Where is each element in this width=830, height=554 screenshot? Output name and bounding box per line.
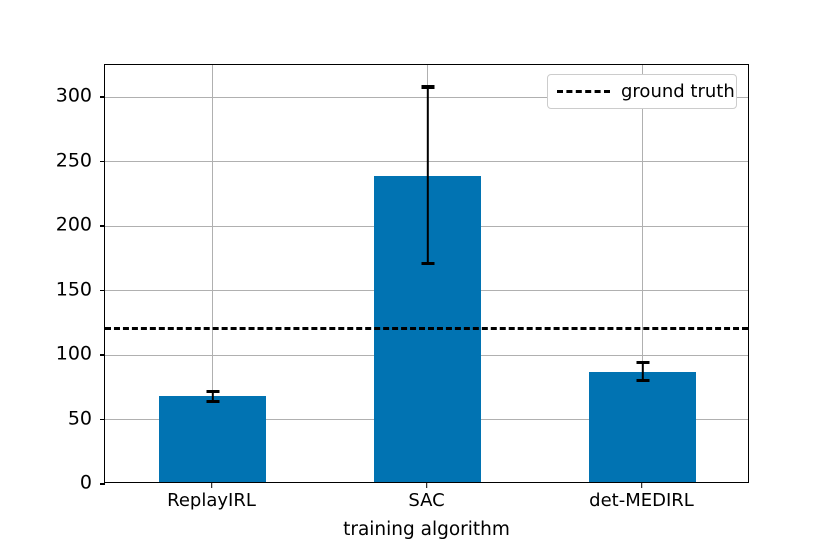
y-tick-label: 300 [56, 87, 92, 106]
x-tick-label-sac: SAC [408, 492, 444, 510]
plot-area [104, 64, 749, 483]
bar-det-medirl [589, 372, 697, 482]
y-tick-mark [100, 161, 105, 163]
y-tick-mark [100, 419, 105, 421]
plot-inner [105, 65, 748, 482]
error-bar-cap-upper [206, 390, 219, 393]
y-tick-label: 0 [80, 474, 92, 493]
x-tick-mark [426, 483, 428, 488]
bar-replayirl [159, 396, 267, 482]
x-tick-label-replayirl: ReplayIRL [167, 492, 256, 510]
y-tick-mark [100, 483, 105, 485]
error-bar-cap-lower [421, 262, 434, 265]
error-bar-cap-upper [636, 361, 649, 364]
error-bar-cap-upper [421, 85, 434, 88]
ground-truth-reference-line [105, 327, 748, 330]
x-axis-label: training algorithm [104, 519, 749, 540]
y-axis-label-container: average personal space intrusions [18, 64, 42, 483]
y-tick-label: 200 [56, 216, 92, 235]
y-tick-label: 100 [56, 345, 92, 364]
x-tick-label-det-medirl: det-MEDIRL [589, 492, 694, 510]
y-tick-label: 250 [56, 151, 92, 170]
legend-label-ground-truth: ground truth [621, 81, 735, 102]
y-tick-mark [100, 96, 105, 98]
y-tick-mark [100, 225, 105, 227]
error-bar-cap-lower [206, 400, 219, 403]
legend: ground truth [547, 74, 737, 109]
error-bar-line [641, 363, 643, 381]
figure: average personal space intrusions traini… [0, 0, 830, 554]
y-tick-label: 50 [68, 409, 92, 428]
y-tick-mark [100, 354, 105, 356]
x-tick-mark [641, 483, 643, 488]
y-tick-mark [100, 290, 105, 292]
x-tick-mark [211, 483, 213, 488]
y-tick-label: 150 [56, 280, 92, 299]
error-bar-cap-lower [636, 379, 649, 382]
error-bar-line [426, 87, 428, 264]
legend-dashed-line-swatch [557, 90, 610, 93]
